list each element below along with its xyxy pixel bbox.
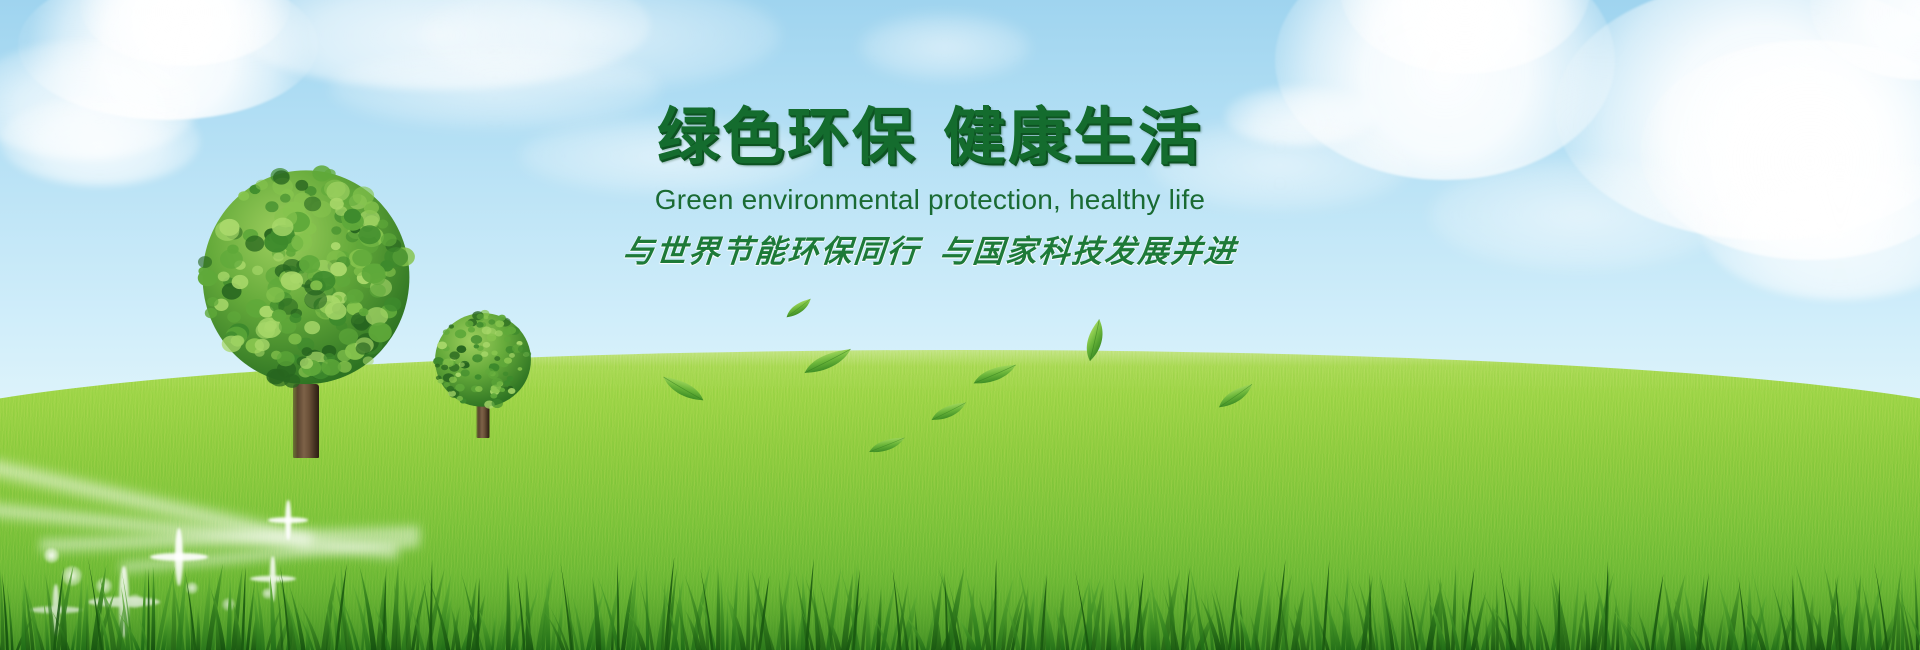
tagline: 与世界节能环保同行与国家科技发展并进: [618, 226, 1242, 271]
headline-part2: 健康生活: [943, 100, 1203, 173]
tree-small: [432, 312, 534, 438]
tree-large: [196, 168, 416, 458]
banner-copy: 绿色环保健康生活 Green environmental protection,…: [620, 104, 1240, 271]
hero-banner: 绿色环保健康生活 Green environmental protection,…: [0, 0, 1920, 650]
tagline-part1: 与世界节能环保同行: [621, 234, 921, 270]
headline-part1: 绿色环保: [657, 100, 917, 173]
headline: 绿色环保健康生活: [620, 104, 1240, 170]
tagline-part2: 与国家科技发展并进: [938, 234, 1238, 270]
foreground-grass-strip: [0, 558, 1920, 650]
tree-small-canopy: [432, 312, 534, 412]
tree-large-canopy: [196, 168, 416, 396]
grass-blades-icon: [0, 558, 1920, 650]
subheadline: Green environmental protection, healthy …: [620, 184, 1240, 216]
